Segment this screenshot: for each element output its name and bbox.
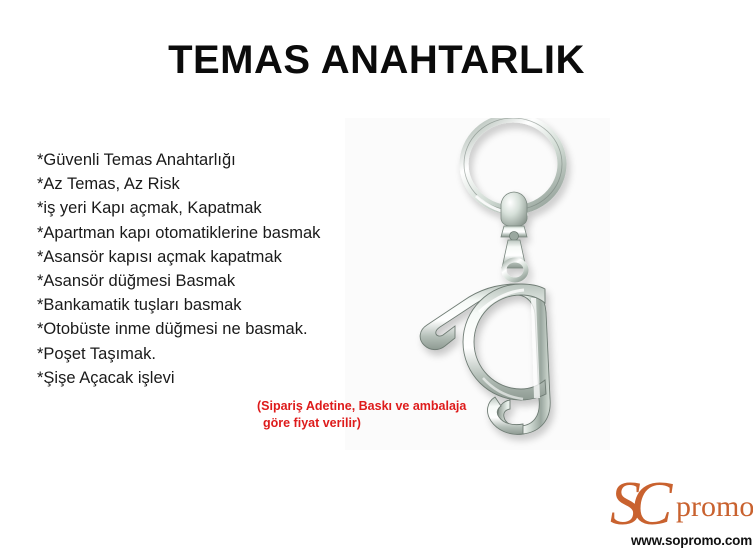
list-item: *Güvenli Temas Anahtarlığı	[37, 148, 367, 172]
page-title: TEMAS ANAHTARLIK	[0, 38, 753, 82]
presentation-slide: TEMAS ANAHTARLIK	[0, 0, 753, 560]
feature-list: *Güvenli Temas Anahtarlığı *Az Temas, Az…	[37, 148, 367, 390]
list-item: *Şişe Açacak işlevi	[37, 366, 367, 390]
logo-sc-monogram: SC	[610, 469, 662, 540]
list-item: *Otobüste inme düğmesi ne basmak.	[37, 317, 367, 341]
logo-mark: SC promo	[604, 478, 749, 532]
list-item: *Asansör kapısı açmak kapatmak	[37, 245, 367, 269]
brand-logo: SC promo www.sopromo.com	[604, 478, 749, 556]
list-item: *Bankamatik tuşları basmak	[37, 293, 367, 317]
list-item: *Apartman kapı otomatiklerine basmak	[37, 221, 367, 245]
list-item: *Asansör düğmesi Basmak	[37, 269, 367, 293]
price-note-line-2: göre fiyat verilir)	[257, 415, 492, 432]
website-url: www.sopromo.com	[631, 533, 752, 548]
logo-promo-word: promo	[676, 490, 753, 524]
list-item: *Az Temas, Az Risk	[37, 172, 367, 196]
list-item: *Poşet Taşımak.	[37, 342, 367, 366]
price-note: (Sipariş Adetine, Baskı ve ambalaja göre…	[257, 398, 492, 432]
price-note-line-1: (Sipariş Adetine, Baskı ve ambalaja	[257, 398, 492, 415]
list-item: *iş yeri Kapı açmak, Kapatmak	[37, 196, 367, 220]
